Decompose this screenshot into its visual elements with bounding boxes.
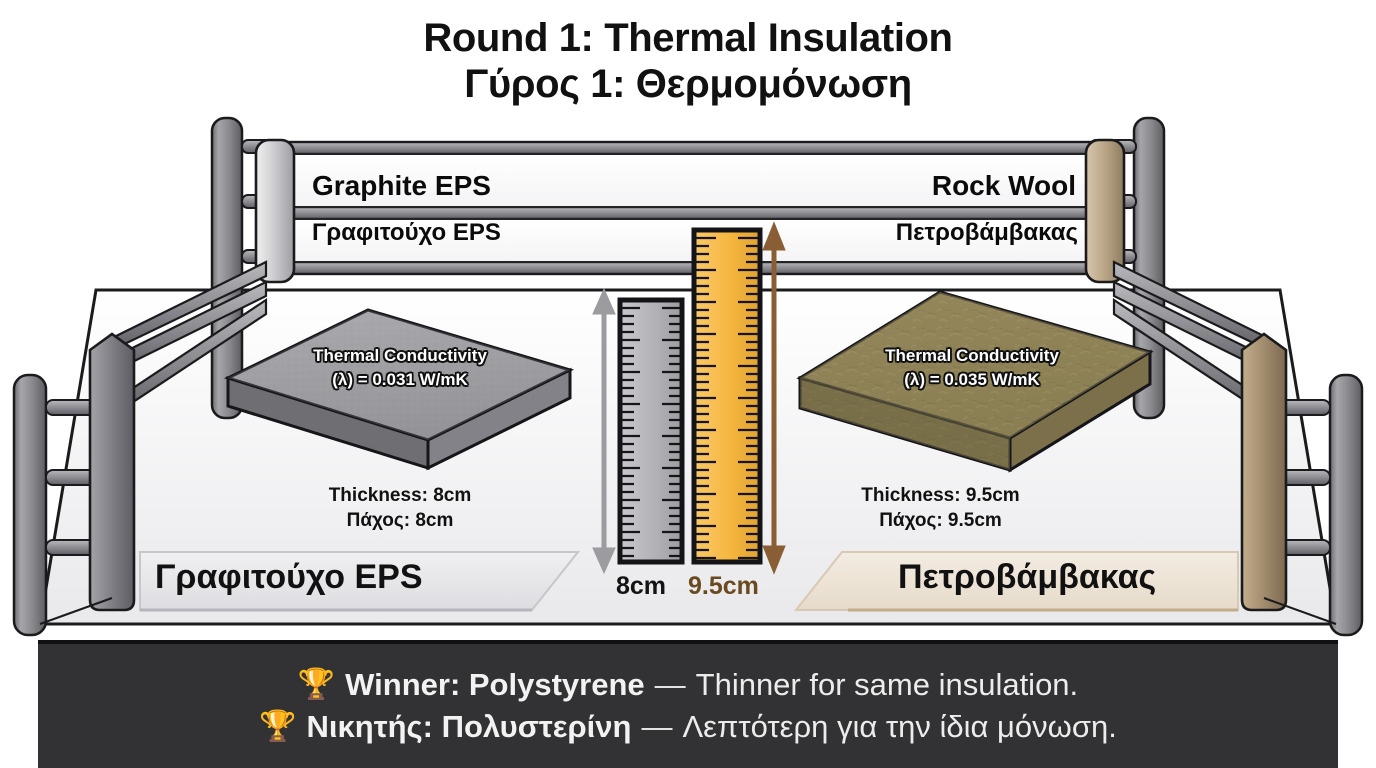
nameplate-left-label: Γραφιτούχο EPS [155, 558, 423, 597]
ring-ropes-back [280, 142, 1100, 274]
ruler-gray-caption: 8cm [616, 572, 666, 601]
trophy-icon: 🏆 [298, 670, 335, 700]
right-slab-conductivity-line1: Thermal Conductivity [862, 344, 1082, 368]
verdict-greek-label: Νικητής: Πολυστερίνη [307, 709, 632, 745]
ring-post-back-right [1090, 118, 1164, 418]
corner-pad-left [256, 140, 294, 282]
corner-sign-left-english: Graphite EPS [312, 170, 491, 202]
verdict-english-label: Winner: Polystyrene [345, 667, 644, 703]
trophy-icon-greek: 🏆 [259, 712, 296, 742]
ring-ropes-right-side [1114, 262, 1268, 416]
verdict-line-english: 🏆 Winner: Polystyrene — Thinner for same… [298, 667, 1078, 703]
left-thickness-greek: Πάχος: 8cm [285, 509, 515, 534]
corner-pad-right [1086, 140, 1124, 282]
left-thickness-block: Thickness: 8cm Πάχος: 8cm [285, 484, 515, 533]
ring-post-front-left [14, 334, 134, 635]
ring-post-front-right [1242, 334, 1362, 635]
verdict-greek-detail: Λεπτότερη για την ίδια μόνωση. [682, 709, 1116, 745]
measure-arrow-gray [596, 294, 612, 568]
left-slab-conductivity-line1: Thermal Conductivity [290, 344, 510, 368]
title-greek: Γύρος 1: Θερμομόνωση [0, 60, 1376, 109]
right-thickness-block: Thickness: 9.5cm Πάχος: 9.5cm [808, 484, 1073, 533]
verdict-english-dash: — [655, 667, 686, 703]
page-title: Round 1: Thermal Insulation Γύρος 1: Θερ… [0, 16, 1376, 109]
verdict-line-greek: 🏆 Νικητής: Πολυστερίνη — Λεπτότερη για τ… [259, 709, 1117, 745]
verdict-greek-dash: — [641, 709, 672, 745]
corner-sign-right-english: Rock Wool [932, 170, 1076, 202]
ring-post-back-left [212, 118, 288, 418]
right-material-slab [800, 292, 1150, 470]
nameplate-right-label: Πετροβάμβακας [898, 558, 1156, 597]
ruler-gray-8cm [620, 300, 682, 562]
title-english: Round 1: Thermal Insulation [0, 16, 1376, 60]
ring-ropes-left-side [112, 262, 266, 416]
right-slab-conductivity-label: Thermal Conductivity (λ) = 0.035 W/mK [862, 344, 1082, 392]
right-thickness-english: Thickness: 9.5cm [808, 484, 1073, 509]
ruler-orange-95cm [694, 230, 760, 562]
right-thickness-greek: Πάχος: 9.5cm [808, 509, 1073, 534]
left-thickness-english: Thickness: 8cm [285, 484, 515, 509]
infographic-canvas: Round 1: Thermal Insulation Γύρος 1: Θερ… [0, 0, 1376, 768]
left-material-slab [228, 310, 570, 468]
verdict-banner: 🏆 Winner: Polystyrene — Thinner for same… [38, 640, 1338, 768]
corner-sign-right-greek: Πετροβάμβακας [896, 219, 1078, 247]
ruler-orange-caption: 9.5cm [688, 572, 759, 601]
left-slab-conductivity-label: Thermal Conductivity (λ) = 0.031 W/mK [290, 344, 510, 392]
left-slab-conductivity-line2: (λ) = 0.031 W/mK [290, 368, 510, 392]
right-slab-conductivity-line2: (λ) = 0.035 W/mK [862, 368, 1082, 392]
measure-arrow-orange [766, 228, 782, 568]
verdict-english-detail: Thinner for same insulation. [696, 667, 1079, 703]
ring-tether-lines [40, 598, 1336, 624]
corner-sign-left-greek: Γραφιτούχο EPS [312, 219, 501, 247]
